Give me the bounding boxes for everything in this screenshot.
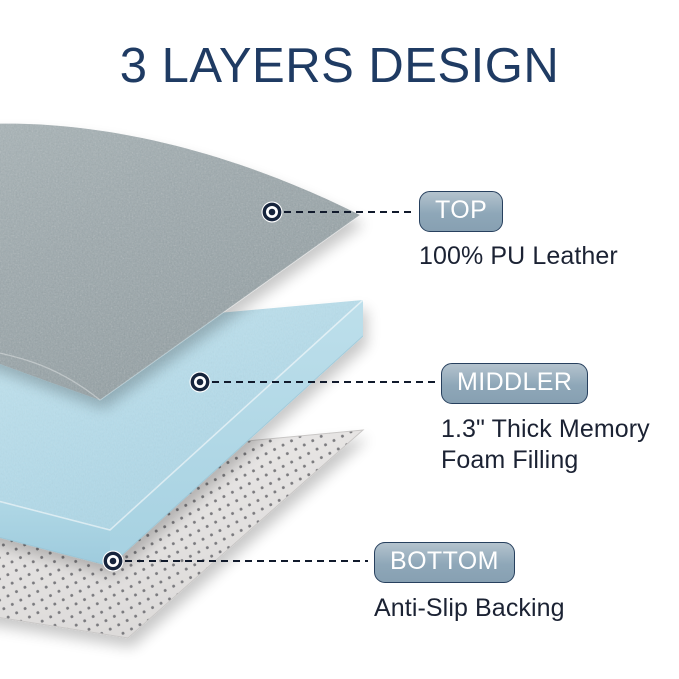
callout-marker-middle (190, 372, 211, 393)
exploded-layer-illustration (0, 0, 679, 679)
layer-description-middle: 1.3" Thick Memory Foam Filling (441, 414, 650, 476)
callout-marker-top (262, 202, 283, 223)
callout-top: TOP 100% PU Leather (419, 191, 618, 272)
layer-badge-bottom: BOTTOM (374, 542, 515, 583)
layer-description-top: 100% PU Leather (419, 241, 618, 272)
callout-bottom: BOTTOM Anti-Slip Backing (374, 542, 565, 624)
page-title: 3 LAYERS DESIGN (0, 38, 679, 94)
callout-middle: MIDDLER 1.3" Thick Memory Foam Filling (441, 363, 650, 476)
layer-badge-middle: MIDDLER (441, 363, 588, 404)
product-layers-infographic: 3 LAYERS DESIGN TOP 100% PU Leather MIDD… (0, 0, 679, 679)
callout-marker-bottom (103, 551, 124, 572)
layer-badge-top: TOP (419, 191, 503, 232)
layer-description-bottom: Anti-Slip Backing (374, 593, 565, 624)
